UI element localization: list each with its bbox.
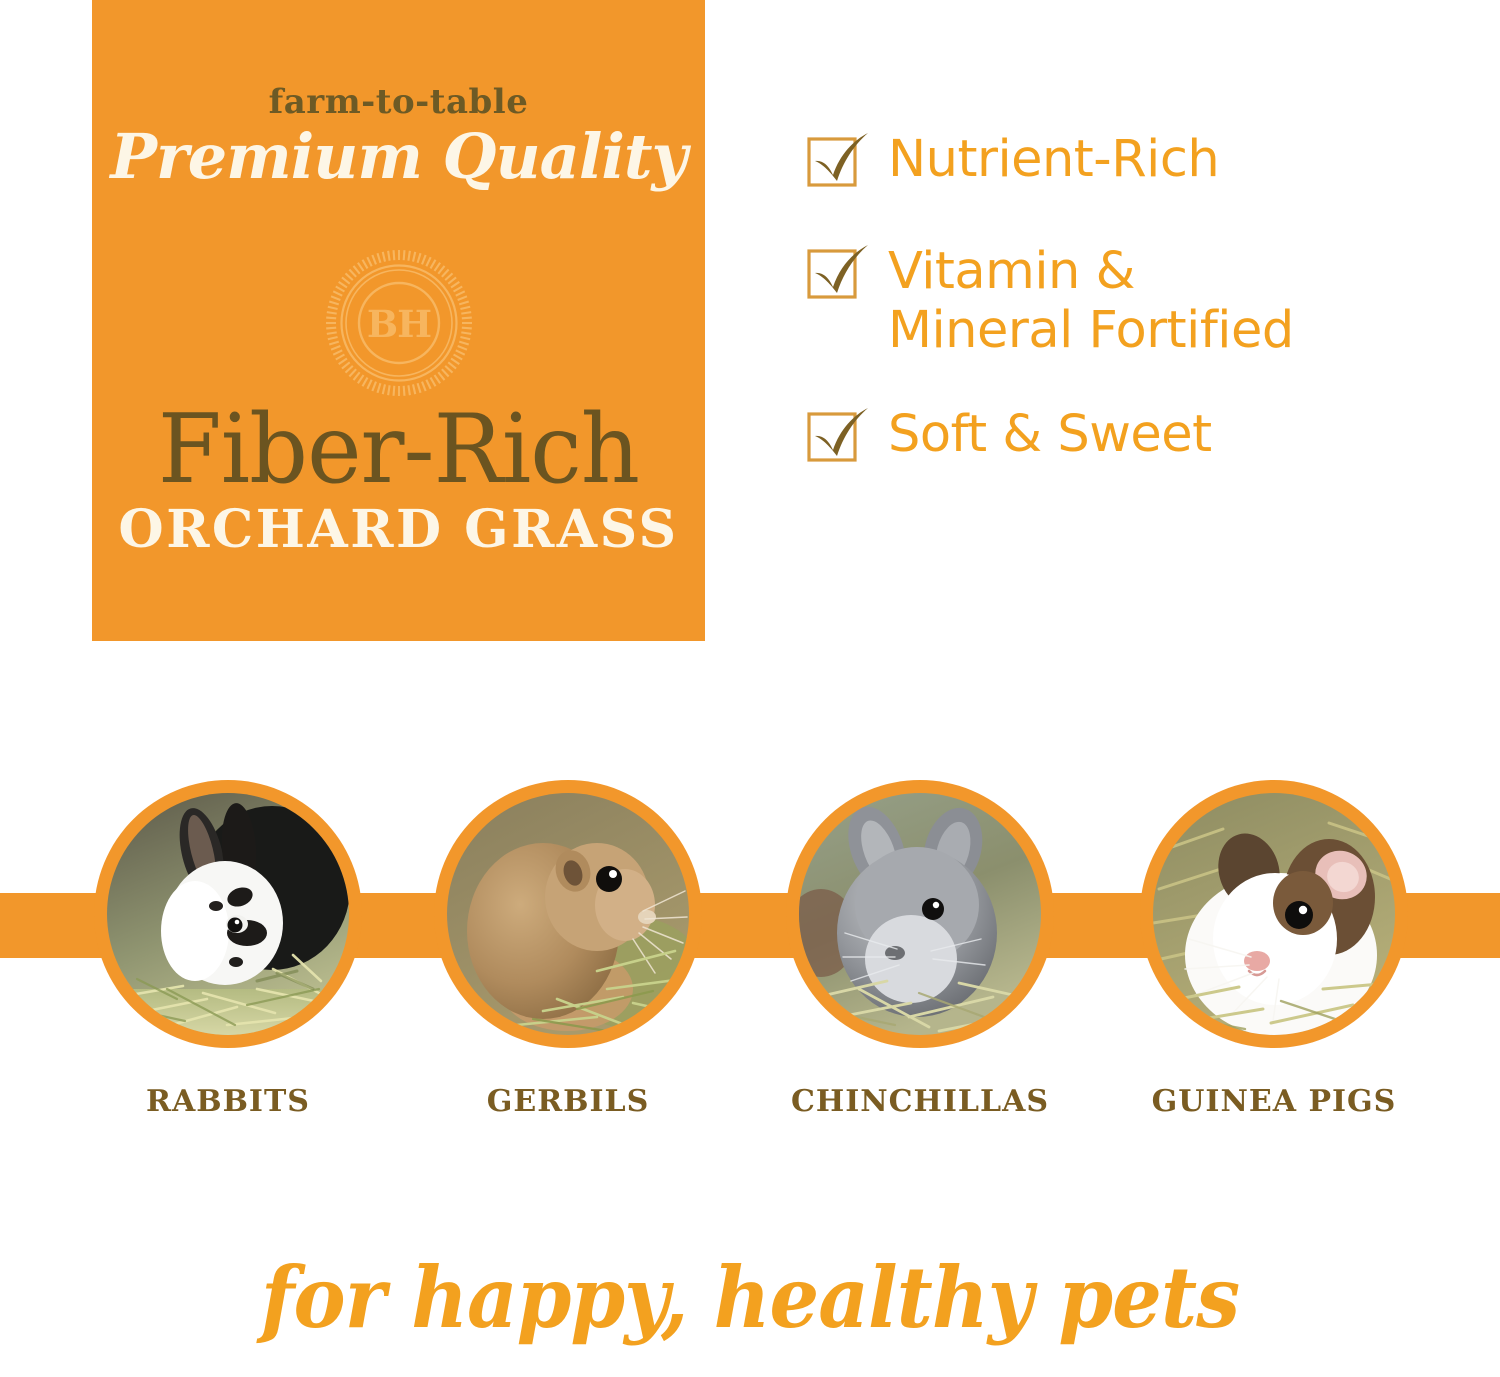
brand-seal-icon: BH <box>324 248 474 398</box>
benefit-item-soft-sweet: Soft & Sweet <box>808 405 1448 465</box>
benefit-label-line1: Soft & Sweet <box>888 405 1212 464</box>
animal-item-gerbils: GERBILS <box>434 780 702 1119</box>
guinea-pig-photo <box>1153 793 1395 1035</box>
benefit-label: Vitamin & Mineral Fortified <box>888 242 1294 361</box>
animal-item-chinchillas: CHINCHILLAS <box>786 780 1054 1119</box>
animal-item-guinea-pigs: GUINEA PIGS <box>1140 780 1408 1119</box>
product-name-primary: Fiber-Rich <box>92 402 705 498</box>
rabbit-photo <box>107 793 349 1035</box>
chinchilla-photo <box>799 793 1041 1035</box>
script-headline: Premium Quality <box>92 120 705 193</box>
animal-item-rabbits: RABBITS <box>94 780 362 1119</box>
animal-circle <box>94 780 362 1048</box>
animal-label: CHINCHILLAS <box>786 1084 1054 1119</box>
benefit-label: Soft & Sweet <box>888 405 1212 465</box>
svg-text:BH: BH <box>366 302 430 346</box>
animal-showcase: RABBITS <box>0 780 1500 1180</box>
eyebrow-text: farm-to-table <box>92 82 705 122</box>
benefit-label-line2: Mineral Fortified <box>888 301 1294 360</box>
checkbox-checked-icon <box>808 248 854 294</box>
benefit-label-line1: Vitamin & <box>888 242 1135 301</box>
benefit-item-nutrient-rich: Nutrient-Rich <box>808 130 1448 190</box>
benefit-label: Nutrient-Rich <box>888 130 1219 190</box>
benefit-item-vitamin-mineral: Vitamin & Mineral Fortified <box>808 242 1448 361</box>
benefits-list: Nutrient-Rich Vitamin & Mineral Fortifie… <box>808 130 1448 465</box>
checkbox-checked-icon <box>808 411 854 457</box>
closing-tagline: for happy, healthy pets <box>53 1248 1448 1347</box>
animal-circle <box>786 780 1054 1048</box>
product-name-secondary: ORCHARD GRASS <box>92 504 705 556</box>
animal-circle <box>434 780 702 1048</box>
benefit-label-line1: Nutrient-Rich <box>888 130 1219 189</box>
gerbil-photo <box>447 793 689 1035</box>
animal-label: RABBITS <box>94 1084 362 1119</box>
animal-label: GERBILS <box>434 1084 702 1119</box>
animal-circle <box>1140 780 1408 1048</box>
checkbox-checked-icon <box>808 136 854 182</box>
brand-panel: farm-to-table Premium Quality BH Fiber-R… <box>92 0 705 641</box>
animal-label: GUINEA PIGS <box>1140 1084 1408 1119</box>
